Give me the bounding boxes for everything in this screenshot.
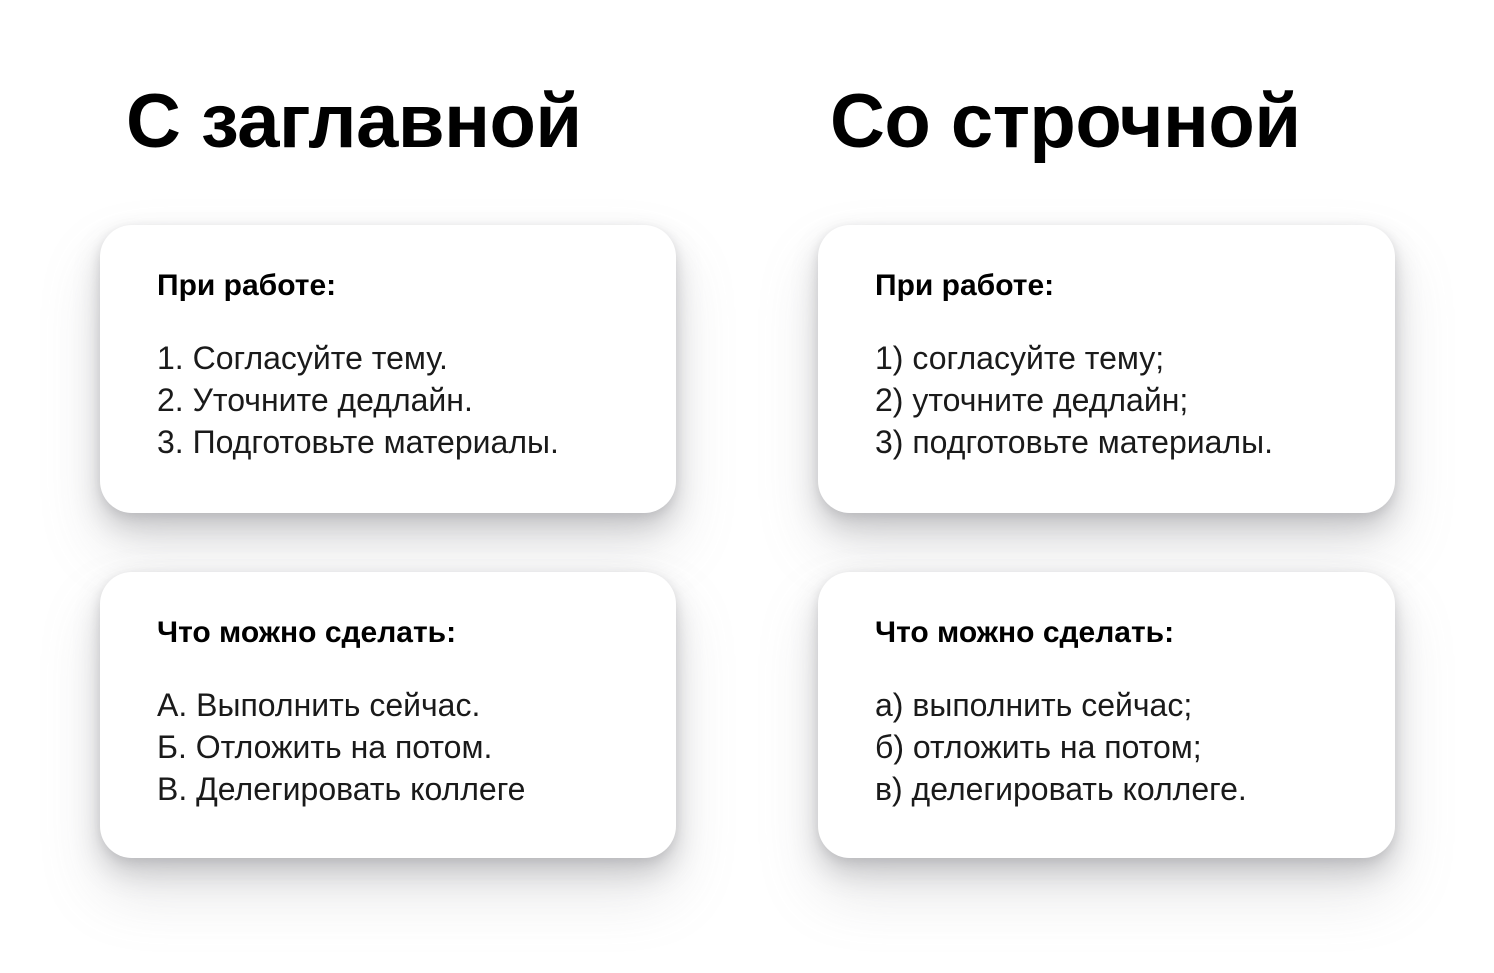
card-list: 1. Согласуйте тему. 2. Уточните дедлайн.… xyxy=(157,337,636,463)
list-item: б) отложить на потом; xyxy=(875,726,1355,768)
column-title-lowercase: Со строчной xyxy=(830,84,1301,160)
column-title-capital: С заглавной xyxy=(126,84,582,160)
card-capital-at-work: При работе: 1. Согласуйте тему. 2. Уточн… xyxy=(100,225,676,513)
card-capital-what-to-do: Что можно сделать: А. Выполнить сейчас. … xyxy=(100,572,676,858)
card-heading: Что можно сделать: xyxy=(875,618,1355,648)
card-list: а) выполнить сейчас; б) отложить на пото… xyxy=(875,684,1355,810)
card-heading: Что можно сделать: xyxy=(157,618,636,648)
list-item: А. Выполнить сейчас. xyxy=(157,684,636,726)
comparison-board: С заглавной Со строчной При работе: 1. С… xyxy=(0,0,1494,973)
card-list: 1) согласуйте тему; 2) уточните дедлайн;… xyxy=(875,337,1355,463)
list-item: 2. Уточните дедлайн. xyxy=(157,379,636,421)
list-item: а) выполнить сейчас; xyxy=(875,684,1355,726)
list-item: Б. Отложить на потом. xyxy=(157,726,636,768)
list-item: 3. Подготовьте материалы. xyxy=(157,421,636,463)
card-lowercase-what-to-do: Что можно сделать: а) выполнить сейчас; … xyxy=(818,572,1395,858)
list-item: в) делегировать коллеге. xyxy=(875,768,1355,810)
list-item: 1) согласуйте тему; xyxy=(875,337,1355,379)
card-lowercase-at-work: При работе: 1) согласуйте тему; 2) уточн… xyxy=(818,225,1395,513)
list-item: В. Делегировать коллеге xyxy=(157,768,636,810)
list-item: 2) уточните дедлайн; xyxy=(875,379,1355,421)
card-heading: При работе: xyxy=(157,271,636,301)
list-item: 3) подготовьте материалы. xyxy=(875,421,1355,463)
card-list: А. Выполнить сейчас. Б. Отложить на пото… xyxy=(157,684,636,810)
list-item: 1. Согласуйте тему. xyxy=(157,337,636,379)
card-heading: При работе: xyxy=(875,271,1355,301)
